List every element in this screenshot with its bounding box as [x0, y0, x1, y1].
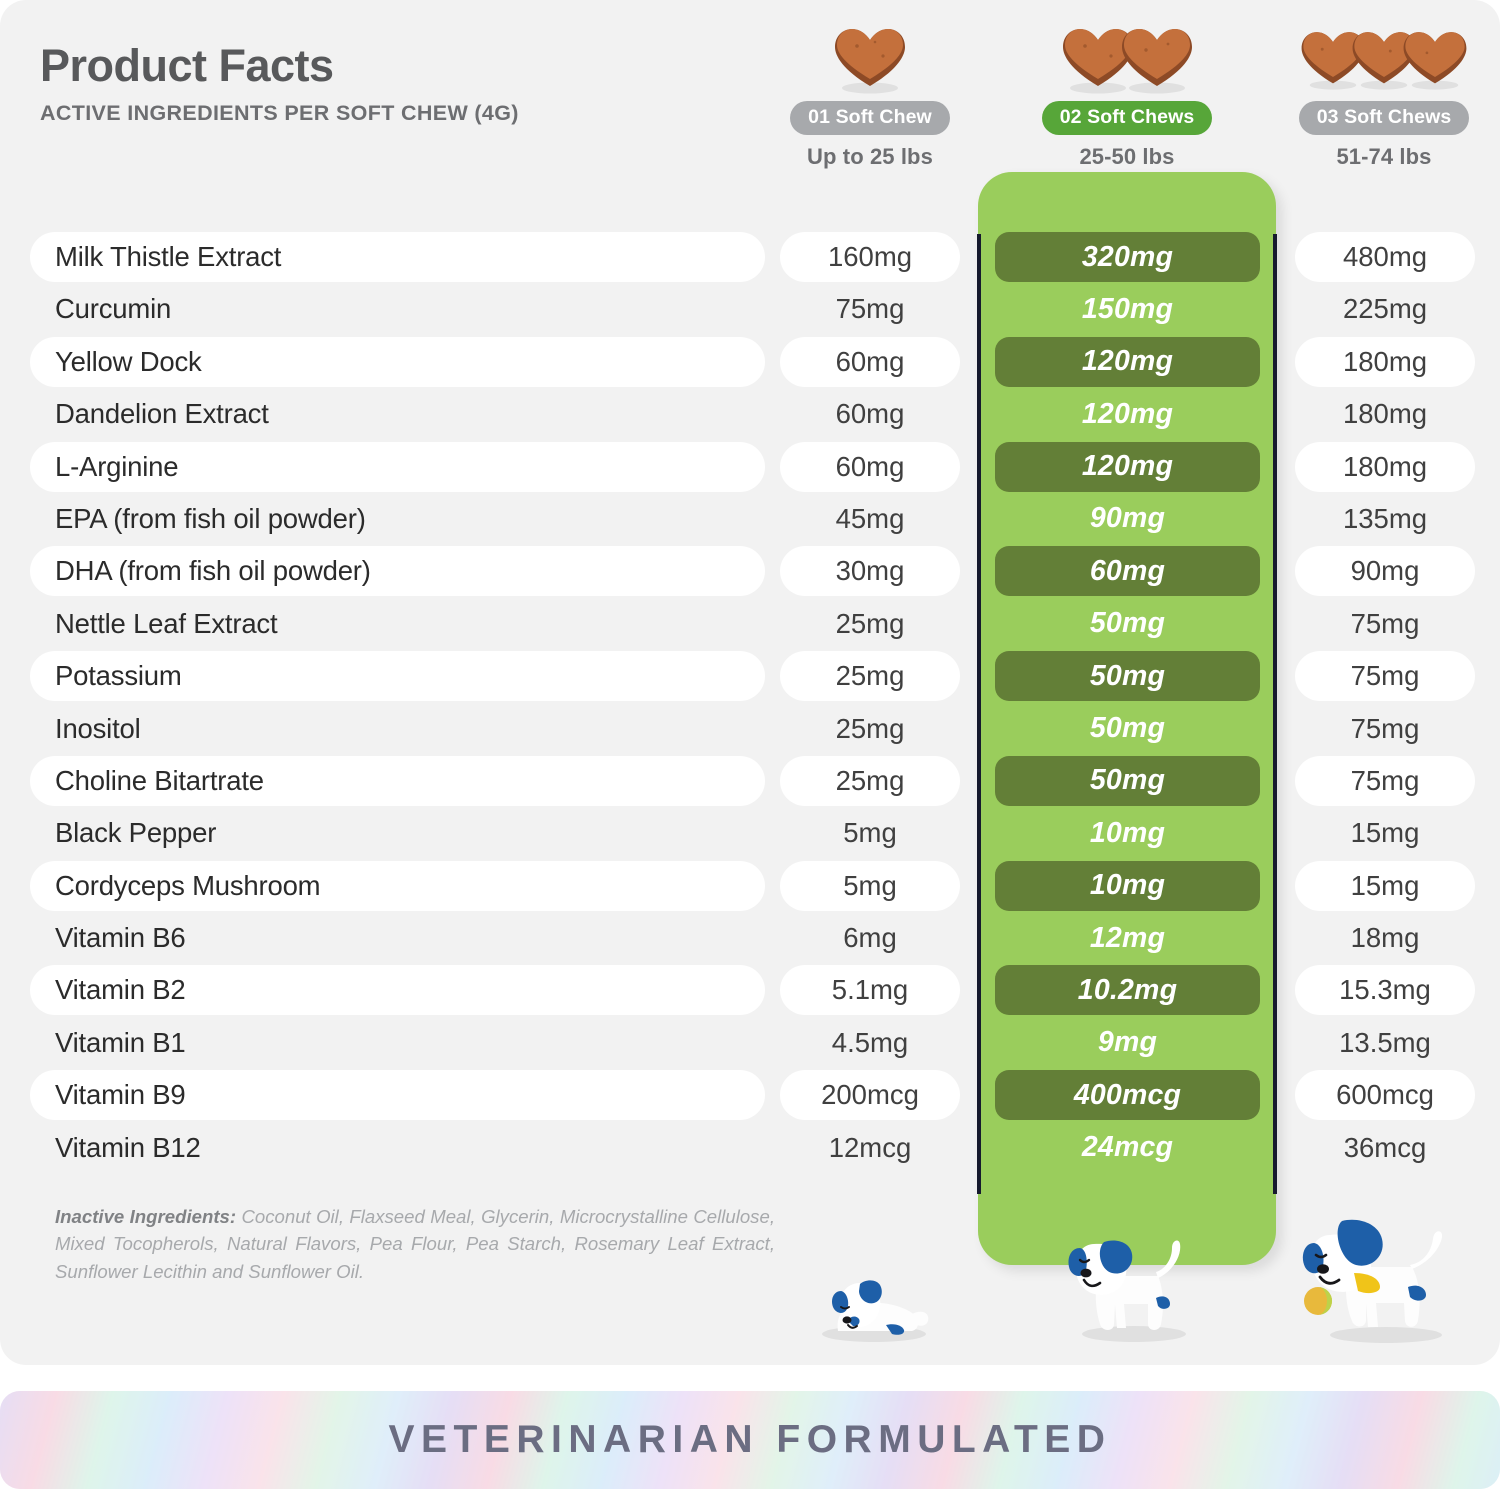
ingredient-amount-3-chews: 225mg: [1295, 284, 1475, 334]
table-row: EPA (from fish oil powder)45mg90mg135mg: [0, 493, 1500, 545]
ingredient-amount-2-chews: 400mcg: [995, 1070, 1260, 1120]
chew-icon-group-2: [1002, 22, 1252, 94]
product-facts-page: Product Facts ACTIVE INGREDIENTS PER SOF…: [0, 0, 1500, 1493]
ingredient-amount-1-chew: 25mg: [780, 651, 960, 701]
table-row: Choline Bitartrate25mg50mg75mg: [0, 755, 1500, 807]
ingredient-name: Vitamin B6: [30, 913, 765, 963]
ingredient-name: Choline Bitartrate: [30, 756, 765, 806]
ingredient-name: Cordyceps Mushroom: [30, 861, 765, 911]
page-subtitle: ACTIVE INGREDIENTS PER SOFT CHEW (4G): [40, 101, 740, 126]
ingredient-amount-3-chews: 180mg: [1295, 389, 1475, 439]
ingredient-amount-1-chew: 60mg: [780, 442, 960, 492]
ingredient-amount-2-chews: 60mg: [995, 546, 1260, 596]
ingredient-amount-2-chews: 90mg: [995, 494, 1260, 544]
ingredient-name: L-Arginine: [30, 442, 765, 492]
ingredient-amount-1-chew: 25mg: [780, 599, 960, 649]
ingredient-name: Yellow Dock: [30, 337, 765, 387]
column-header-1: 01 Soft Chew Up to 25 lbs: [745, 22, 995, 170]
ingredient-amount-3-chews: 36mcg: [1295, 1123, 1475, 1173]
soft-chew-heart-icon: [1400, 26, 1470, 94]
ingredient-amount-1-chew: 45mg: [780, 494, 960, 544]
veterinarian-formulated-banner: VETERINARIAN FORMULATED: [0, 1391, 1500, 1489]
table-row: Black Pepper5mg10mg15mg: [0, 807, 1500, 859]
ingredient-amount-1-chew: 25mg: [780, 756, 960, 806]
ingredient-amount-3-chews: 90mg: [1295, 546, 1475, 596]
ingredient-amount-2-chews: 120mg: [995, 389, 1260, 439]
ingredient-amount-2-chews: 150mg: [995, 284, 1260, 334]
table-row: Nettle Leaf Extract25mg50mg75mg: [0, 598, 1500, 650]
ingredient-amount-1-chew: 5.1mg: [780, 965, 960, 1015]
ingredient-amount-2-chews: 50mg: [995, 651, 1260, 701]
dose-badge-3: 03 Soft Chews: [1299, 101, 1470, 135]
table-row: Milk Thistle Extract160mg320mg480mg: [0, 231, 1500, 283]
column-header-2: 02 Soft Chews 25-50 lbs: [1002, 22, 1252, 170]
ingredient-amount-3-chews: 75mg: [1295, 756, 1475, 806]
table-row: Vitamin B9200mcg400mcg600mcg: [0, 1069, 1500, 1121]
ingredient-name: EPA (from fish oil powder): [30, 494, 765, 544]
ingredient-amount-3-chews: 18mg: [1295, 913, 1475, 963]
chew-icon-group-3: [1259, 22, 1500, 94]
table-row: Vitamin B1212mcg24mcg36mcg: [0, 1122, 1500, 1174]
inactive-ingredients-label: Inactive Ingredients:: [55, 1206, 236, 1227]
ingredient-amount-1-chew: 60mg: [780, 389, 960, 439]
ingredient-amount-3-chews: 15mg: [1295, 808, 1475, 858]
ingredient-amount-3-chews: 75mg: [1295, 651, 1475, 701]
weight-label-1: Up to 25 lbs: [745, 144, 995, 170]
ingredient-name: Vitamin B2: [30, 965, 765, 1015]
ingredient-name: Milk Thistle Extract: [30, 232, 765, 282]
ingredient-amount-1-chew: 12mcg: [780, 1123, 960, 1173]
ingredient-amount-2-chews: 9mg: [995, 1018, 1260, 1068]
table-row: L-Arginine60mg120mg180mg: [0, 441, 1500, 493]
table-row: Vitamin B25.1mg10.2mg15.3mg: [0, 964, 1500, 1016]
ingredient-amount-2-chews: 12mg: [995, 913, 1260, 963]
ingredient-name: Curcumin: [30, 284, 765, 334]
ingredient-name: Vitamin B1: [30, 1018, 765, 1068]
weight-label-3: 51-74 lbs: [1259, 144, 1500, 170]
soft-chew-heart-icon: [831, 26, 909, 94]
ingredient-amount-1-chew: 75mg: [780, 284, 960, 334]
ingredient-amount-3-chews: 480mg: [1295, 232, 1475, 282]
ingredient-name: Vitamin B12: [30, 1123, 765, 1173]
ingredient-amount-2-chews: 10.2mg: [995, 965, 1260, 1015]
table-row: Potassium25mg50mg75mg: [0, 650, 1500, 702]
ingredient-amount-1-chew: 5mg: [780, 808, 960, 858]
ingredient-amount-2-chews: 320mg: [995, 232, 1260, 282]
page-title: Product Facts: [40, 42, 740, 90]
ingredient-amount-1-chew: 4.5mg: [780, 1018, 960, 1068]
soft-chew-heart-icon: [1118, 26, 1196, 94]
lying-puppy-illustration: [808, 1251, 938, 1343]
dose-badge-1: 01 Soft Chew: [790, 101, 950, 135]
ingredient-name: DHA (from fish oil powder): [30, 546, 765, 596]
table-row: Yellow Dock60mg120mg180mg: [0, 336, 1500, 388]
ingredient-amount-1-chew: 25mg: [780, 704, 960, 754]
column-header-3: 03 Soft Chews 51-74 lbs: [1259, 22, 1500, 170]
table-row: Vitamin B14.5mg9mg13.5mg: [0, 1017, 1500, 1069]
table-row: Dandelion Extract60mg120mg180mg: [0, 388, 1500, 440]
ingredient-amount-1-chew: 60mg: [780, 337, 960, 387]
ingredient-amount-2-chews: 10mg: [995, 808, 1260, 858]
ingredient-amount-1-chew: 30mg: [780, 546, 960, 596]
banner-text: VETERINARIAN FORMULATED: [0, 1391, 1500, 1489]
ingredient-amount-3-chews: 75mg: [1295, 599, 1475, 649]
ingredient-amount-2-chews: 120mg: [995, 337, 1260, 387]
table-row: Inositol25mg50mg75mg: [0, 703, 1500, 755]
weight-label-2: 25-50 lbs: [1002, 144, 1252, 170]
ingredient-amount-1-chew: 6mg: [780, 913, 960, 963]
ingredient-amount-2-chews: 24mcg: [995, 1123, 1260, 1173]
ingredient-name: Black Pepper: [30, 808, 765, 858]
product-facts-panel: Product Facts ACTIVE INGREDIENTS PER SOF…: [0, 0, 1500, 1365]
running-dog-with-ball-illustration: [1300, 1215, 1465, 1347]
ingredient-amount-3-chews: 15mg: [1295, 861, 1475, 911]
inactive-ingredients: Inactive Ingredients: Coconut Oil, Flaxs…: [55, 1203, 775, 1285]
ingredient-amount-2-chews: 120mg: [995, 442, 1260, 492]
table-row: Curcumin75mg150mg225mg: [0, 283, 1500, 335]
table-row: Cordyceps Mushroom5mg10mg15mg: [0, 860, 1500, 912]
ingredient-amount-3-chews: 15.3mg: [1295, 965, 1475, 1015]
ingredient-amount-3-chews: 75mg: [1295, 704, 1475, 754]
ingredient-amount-2-chews: 10mg: [995, 861, 1260, 911]
ingredient-amount-2-chews: 50mg: [995, 756, 1260, 806]
chew-icon-group-1: [745, 22, 995, 94]
ingredient-name: Dandelion Extract: [30, 389, 765, 439]
ingredient-amount-2-chews: 50mg: [995, 599, 1260, 649]
ingredient-amount-3-chews: 13.5mg: [1295, 1018, 1475, 1068]
ingredient-amount-3-chews: 180mg: [1295, 337, 1475, 387]
ingredient-name: Potassium: [30, 651, 765, 701]
ingredient-name: Nettle Leaf Extract: [30, 599, 765, 649]
ingredient-amount-2-chews: 50mg: [995, 704, 1260, 754]
standing-dog-illustration: [1060, 1218, 1208, 1343]
ingredients-table: Milk Thistle Extract160mg320mg480mgCurcu…: [0, 231, 1500, 1174]
table-row: DHA (from fish oil powder)30mg60mg90mg: [0, 545, 1500, 597]
dose-badge-2: 02 Soft Chews: [1042, 101, 1213, 135]
ingredient-amount-3-chews: 135mg: [1295, 494, 1475, 544]
header-block: Product Facts ACTIVE INGREDIENTS PER SOF…: [40, 42, 740, 126]
ingredient-name: Vitamin B9: [30, 1070, 765, 1120]
ingredient-name: Inositol: [30, 704, 765, 754]
ingredient-amount-3-chews: 600mcg: [1295, 1070, 1475, 1120]
ingredient-amount-3-chews: 180mg: [1295, 442, 1475, 492]
ingredient-amount-1-chew: 160mg: [780, 232, 960, 282]
ingredient-amount-1-chew: 5mg: [780, 861, 960, 911]
table-row: Vitamin B66mg12mg18mg: [0, 912, 1500, 964]
ingredient-amount-1-chew: 200mcg: [780, 1070, 960, 1120]
